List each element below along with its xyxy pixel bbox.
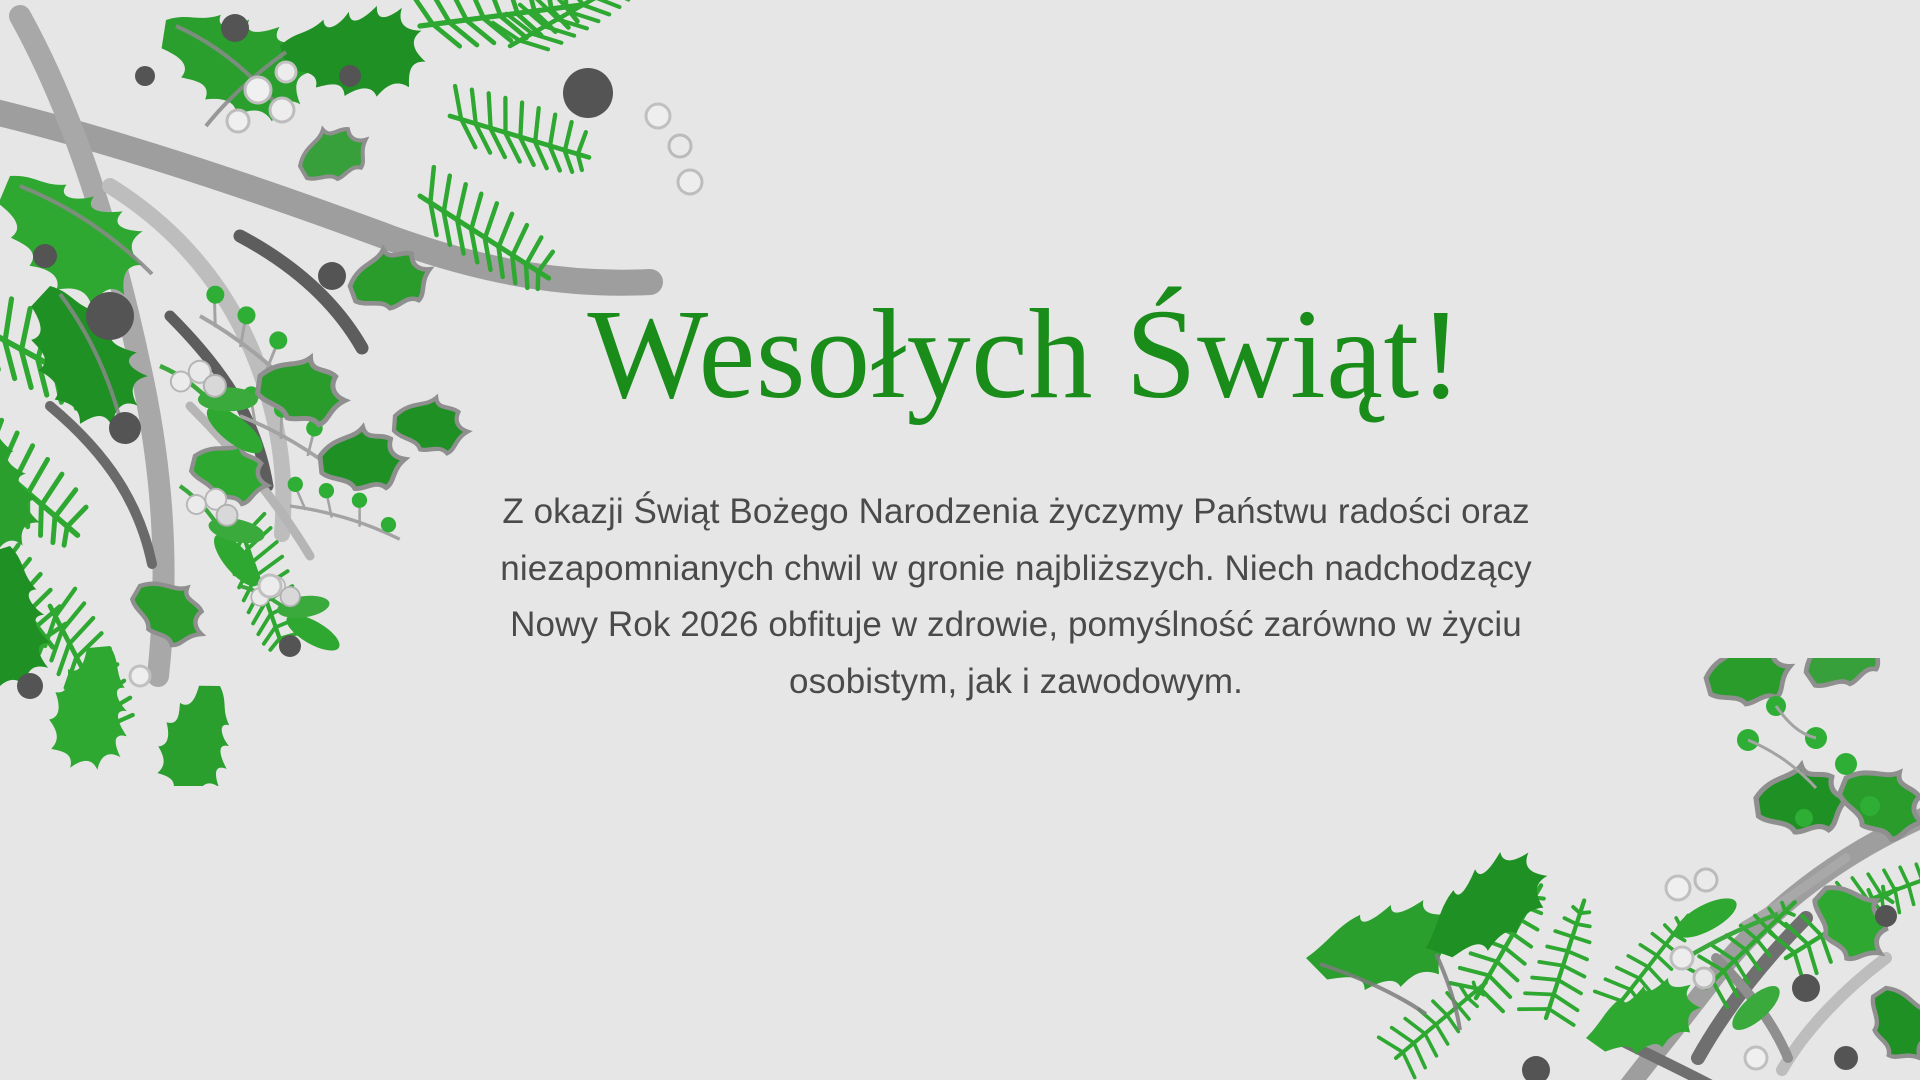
message-line-3: Nowy Rok 2026 obfituje w zdrowie, pomyśl… — [471, 597, 1561, 654]
message-line-1: Z okazji Świąt Bożego Narodzenia życzymy… — [471, 484, 1561, 541]
greeting-message: Z okazji Świąt Bożego Narodzenia życzymy… — [471, 484, 1561, 711]
message-line-4: osobistym, jak i zawodowym. — [471, 654, 1561, 711]
christmas-greeting-card: Wesołych Świąt! Z okazji Świąt Bożego Na… — [0, 0, 1920, 1080]
card-content: Wesołych Świąt! Z okazji Świąt Bożego Na… — [0, 0, 1920, 1080]
page-title: Wesołych Świąt! — [425, 290, 1625, 418]
message-line-2: niezapomnianych chwil w gronie najbliższ… — [471, 541, 1561, 598]
